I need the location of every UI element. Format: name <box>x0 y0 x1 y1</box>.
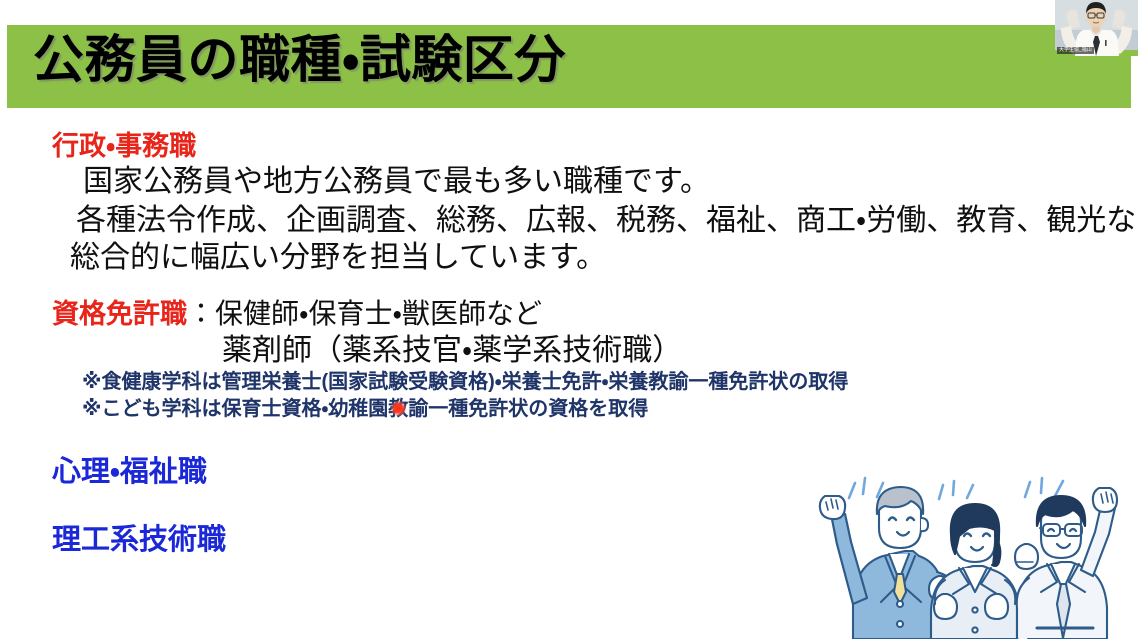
slide-canvas: 公務員の職種・試験区分 行政・事務職 国家公務員や地方公務員で最も多い職種です。… <box>0 0 1138 639</box>
shikaku-line-2: 薬剤師（薬系技官・薬学系技術職） <box>222 336 682 366</box>
section-heading-shikaku: 資格免許職 <box>52 299 187 329</box>
section-heading-shikaku-row: 資格免許職：保健師・保育士・獣医師など <box>52 300 542 328</box>
laser-pointer-dot <box>391 401 406 416</box>
three-cheering-people-illustration <box>793 452 1138 639</box>
webcam-participant-name: 大学生協_福山 <box>1057 47 1094 54</box>
webcam-video-overlay[interactable]: 大学生協_福山 <box>1055 0 1138 56</box>
shikaku-inline-rest: ：保健師・保育士・獣医師など <box>187 298 542 329</box>
section-heading-rikou: 理工系技術職 <box>52 526 226 555</box>
section-heading-shinri: 心理・福祉職 <box>52 458 207 487</box>
gyosei-line-3: 総合的に幅広い分野を担当しています。 <box>70 243 606 273</box>
note-line-2: ※こども学科は保育士資格・幼稚園教諭一種免許状の資格を取得 <box>82 399 648 419</box>
page-title: 公務員の職種・試験区分 <box>33 34 566 85</box>
gyosei-line-2: 各種法令作成、企画調査、総務、広報、税務、福祉、商工・労働、教育、観光など、 <box>76 206 1138 236</box>
note-line-1: ※食健康学科は管理栄養士(国家試験受験資格)・栄養士免許・栄養教諭一種免許状の取… <box>82 372 848 392</box>
gyosei-line-1: 国家公務員や地方公務員で最も多い職種です。 <box>83 167 710 197</box>
section-heading-gyosei: 行政・事務職 <box>52 133 196 160</box>
